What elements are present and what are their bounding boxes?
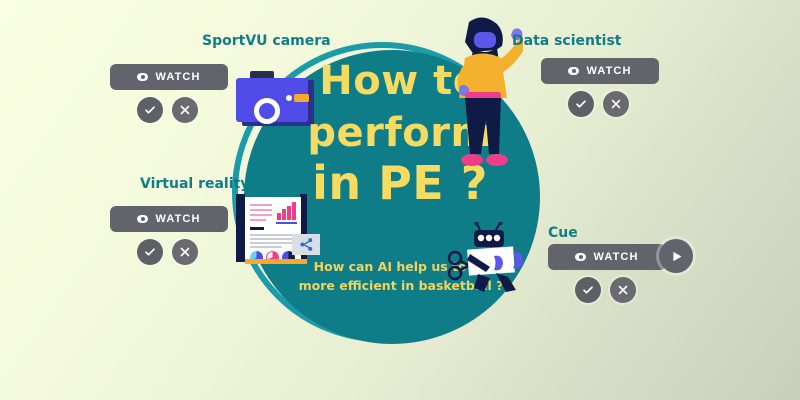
reject-button-data-scientist[interactable] [603, 91, 629, 117]
robot-leg-left [474, 274, 490, 292]
camera-lens-icon [254, 98, 280, 124]
doc-heading-line [250, 227, 264, 230]
chart-bar [277, 213, 281, 220]
eye-icon [137, 215, 148, 223]
section-label-data-scientist: Data scientist [512, 33, 622, 49]
robot-eye [494, 235, 500, 241]
close-icon [610, 98, 622, 110]
reject-button-cue[interactable] [610, 277, 636, 303]
robot-svg [466, 222, 536, 296]
action-row-sportvu-camera [110, 97, 228, 123]
doc-bar-chart [277, 202, 297, 220]
eye-icon [568, 67, 579, 75]
doc-text-line [250, 219, 266, 221]
close-icon [179, 246, 191, 258]
check-icon [575, 98, 587, 110]
check-icon [144, 246, 156, 258]
robot-eye [478, 235, 484, 241]
watch-button-label: WATCH [155, 71, 200, 83]
person-illustration [443, 14, 523, 174]
doc-text-line [250, 214, 272, 216]
doc-text-line [250, 204, 272, 206]
watch-widget-data-scientist: WATCH [541, 58, 659, 117]
doc-chart-underline [276, 222, 297, 224]
document-spine-left [236, 194, 245, 262]
play-icon [669, 249, 684, 264]
play-button-cue[interactable] [659, 239, 693, 273]
camera-indicator-dot [286, 95, 292, 101]
accept-button-data-scientist[interactable] [568, 91, 594, 117]
camera-body [236, 78, 308, 122]
person-face-mask [474, 32, 496, 48]
robot-leg-right [496, 273, 516, 292]
chart-bar [282, 209, 286, 220]
robot-eye [486, 235, 492, 241]
robot-antenna [477, 223, 500, 230]
watch-widget-sportvu-camera: WATCH [110, 64, 228, 123]
doc-text-line [250, 242, 295, 244]
poster-canvas: How to perform in PE ? How can AI help u… [0, 0, 800, 400]
watch-widget-cue: WATCH [548, 244, 666, 303]
watch-widget-virtual-reality: WATCH [110, 206, 228, 265]
check-icon [144, 104, 156, 116]
close-icon [179, 104, 191, 116]
person-shoe-right [486, 154, 508, 166]
person-belt [465, 92, 501, 99]
robot-hand-right [513, 252, 523, 268]
robot-illustration [466, 222, 536, 296]
accept-button-virtual-reality[interactable] [137, 239, 163, 265]
share-icon [292, 234, 320, 255]
check-icon [582, 284, 594, 296]
section-label-sportvu-camera: SportVU camera [202, 33, 331, 49]
chart-bar [287, 206, 291, 220]
section-label-cue: Cue [548, 225, 578, 241]
reject-button-sportvu-camera[interactable] [172, 97, 198, 123]
section-label-virtual-reality: Virtual reality [140, 176, 249, 192]
close-icon [617, 284, 629, 296]
action-row-virtual-reality [110, 239, 228, 265]
watch-button-sportvu-camera[interactable]: WATCH [110, 64, 228, 90]
watch-button-label: WATCH [586, 65, 631, 77]
eye-icon [137, 73, 148, 81]
accept-button-cue[interactable] [575, 277, 601, 303]
reject-button-virtual-reality[interactable] [172, 239, 198, 265]
doc-text-line [250, 209, 272, 211]
doc-text-line [250, 234, 295, 236]
eye-icon [575, 253, 586, 261]
watch-button-data-scientist[interactable]: WATCH [541, 58, 659, 84]
person-svg [443, 14, 523, 174]
person-pants [465, 98, 501, 154]
watch-button-label: WATCH [155, 213, 200, 225]
action-row-data-scientist [541, 91, 659, 117]
person-shoe-left [461, 154, 483, 166]
action-row-cue [548, 277, 666, 303]
watch-button-virtual-reality[interactable]: WATCH [110, 206, 228, 232]
doc-text-line [250, 238, 295, 240]
watch-button-label: WATCH [593, 251, 638, 263]
accept-button-sportvu-camera[interactable] [137, 97, 163, 123]
watch-button-cue[interactable]: WATCH [548, 244, 666, 270]
doc-text-line [250, 246, 282, 248]
chart-bar [292, 202, 296, 220]
